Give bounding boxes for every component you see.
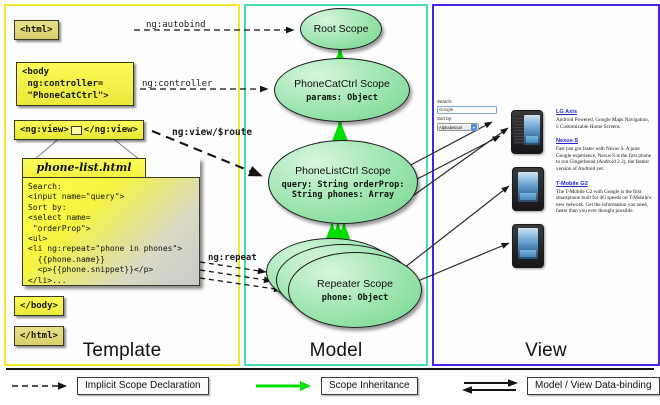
label-ng-autobind: ng:autobind (146, 20, 206, 30)
callout-title: phone-list.html (22, 158, 146, 179)
phone-thumbnail-t-mobile-g2 (512, 224, 544, 268)
label-ng-controller: ng:controller (142, 79, 212, 89)
panel-model-title: Model (246, 340, 426, 362)
dashed-arrow-icon (10, 378, 70, 394)
scope-phonecatctrl-name: PhoneCatCtrl Scope (294, 78, 390, 90)
search-label: Search: (437, 99, 499, 105)
phone-list: LG Axis Android Powered, Google Maps Nav… (556, 108, 652, 222)
scope-root-name: Root Scope (314, 23, 369, 35)
scope-repeater-stack: Repeater Scope phone: Object (266, 238, 420, 330)
list-item: T-Mobile G2 The T-Mobile G2 with Google … (556, 180, 652, 215)
scope-repeater-front: Repeater Scope phone: Object (288, 252, 422, 328)
legend-item-implicit-scope: Implicit Scope Declaration (10, 377, 209, 395)
list-item: LG Axis Android Powered, Google Maps Nav… (556, 108, 652, 130)
phone-name-link[interactable]: LG Axis (556, 108, 652, 116)
ngview-close-label: </ng:view> (84, 124, 138, 136)
scope-root: Root Scope (300, 8, 382, 50)
phone-name-link[interactable]: T-Mobile G2 (556, 180, 652, 188)
body-tag-box: <body ng:controller= "PhoneCatCtrl"> (16, 62, 134, 106)
phone-snippet: Android Powered, Google Maps Navigation,… (556, 117, 652, 130)
solid-arrow-icon (254, 378, 314, 394)
view-search-form: Search: Google Sort by: Alphabetical ▾ (437, 99, 499, 131)
double-arrow-icon (460, 378, 520, 394)
phone-snippet: Fast just got faster with Nexus S. A pur… (556, 146, 652, 172)
panel-view-title: View (434, 340, 658, 362)
html-tag-box: <html> (14, 20, 59, 40)
body-close-tag-box: </body> (14, 296, 64, 316)
scope-repeater-name: Repeater Scope (317, 278, 393, 290)
scope-phonelistctrl-name: PhoneListCtrl Scope (295, 165, 391, 177)
phone-screen (524, 115, 540, 145)
legend-divider (6, 368, 654, 370)
phone-screen (518, 228, 538, 259)
diagram-canvas: Template Model View (0, 0, 660, 405)
label-ng-view-route: ng:view/$route (172, 127, 252, 138)
sort-select[interactable]: Alphabetical ▾ (437, 123, 479, 131)
phone-thumbnail-nexus-s (512, 167, 544, 211)
list-item: Nexus S Fast just got faster with Nexus … (556, 137, 652, 172)
label-ng-repeat: ng:repeat (208, 253, 257, 263)
html-close-tag-box: </html> (14, 326, 64, 346)
ngview-open-label: <ng:view> (20, 124, 69, 136)
callout-code: Search: <input name="query"> Sort by: <s… (22, 177, 200, 286)
ngview-tag-box: <ng:view> </ng:view> (14, 120, 144, 140)
phone-screen (518, 172, 538, 202)
search-input[interactable]: Google (437, 106, 497, 114)
sort-select-value: Alphabetical (439, 124, 462, 131)
scope-phonelistctrl-props: query: String orderProp: String phones: … (269, 180, 417, 200)
scope-phonecatctrl-props: params: Object (306, 93, 378, 103)
chevron-down-icon: ▾ (471, 124, 477, 131)
legend-item-data-binding: Model / View Data-binding (460, 377, 660, 395)
sort-label: Sort by: (437, 116, 499, 122)
phone-name-link[interactable]: Nexus S (556, 137, 652, 145)
legend-item-scope-inheritance: Scope Inheritance (254, 377, 418, 395)
scope-repeater-props: phone: Object (322, 293, 389, 303)
legend: Implicit Scope Declaration Scope Inherit… (0, 368, 660, 405)
ngview-placeholder-icon (71, 126, 82, 135)
legend-label: Implicit Scope Declaration (77, 377, 209, 395)
scope-phonecatctrl: PhoneCatCtrl Scope params: Object (274, 58, 410, 122)
legend-label: Scope Inheritance (321, 377, 418, 395)
phone-thumbnail-lg-axis (511, 110, 543, 154)
legend-label: Model / View Data-binding (527, 377, 660, 395)
scope-phonelistctrl: PhoneListCtrl Scope query: String orderP… (268, 140, 418, 224)
phone-list-callout: phone-list.html Search: <input name="que… (22, 158, 200, 286)
phone-snippet: The T-Mobile G2 with Google is the first… (556, 189, 652, 215)
